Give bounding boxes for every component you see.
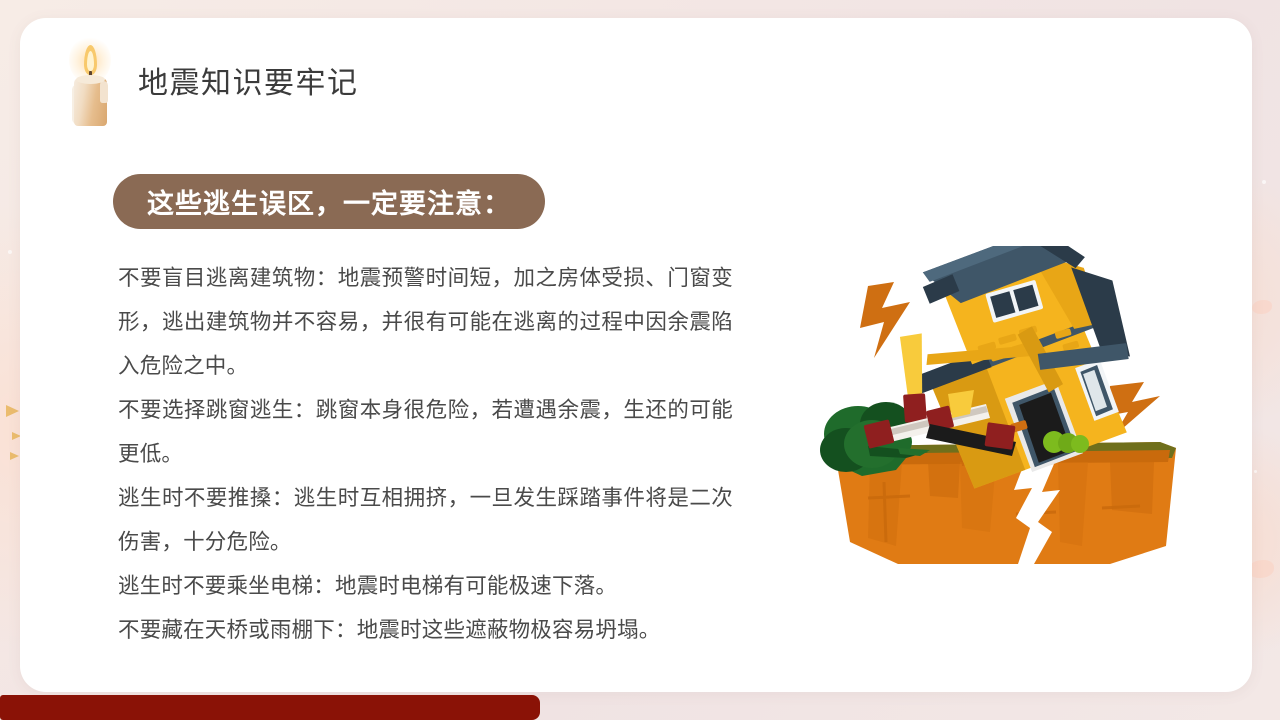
- body-paragraph: 逃生时不要推搡：逃生时互相拥挤，一旦发生踩踏事件将是二次伤害，十分危险。: [118, 476, 733, 564]
- gold-triangle-icon: [10, 452, 19, 460]
- section-banner-label: 这些逃生误区，一定要注意：: [147, 182, 511, 221]
- section-banner: 这些逃生误区，一定要注意：: [113, 174, 545, 229]
- sparkle-decor: [1254, 470, 1257, 473]
- slide-header: 地震知识要牢记: [58, 34, 359, 126]
- body-text-block: 不要盲目逃离建筑物：地震预警时间短，加之房体受损、门窗变形，逃出建筑物并不容易，…: [118, 256, 733, 652]
- bottom-accent-bar: [0, 695, 540, 720]
- sparkle-decor: [1262, 180, 1266, 184]
- petal-decor: [1252, 300, 1272, 314]
- body-paragraph: 不要选择跳窗逃生：跳窗本身很危险，若遭遇余震，生还的可能更低。: [118, 388, 733, 476]
- body-paragraph: 逃生时不要乘坐电梯：地震时电梯有可能极速下落。: [118, 564, 733, 608]
- gold-triangle-icon: [6, 405, 19, 417]
- candle-icon: [58, 34, 122, 126]
- slide-card: 地震知识要牢记 这些逃生误区，一定要注意： 不要盲目逃离建筑物：地震预警时间短，…: [20, 18, 1252, 692]
- page-title: 地震知识要牢记: [138, 58, 359, 102]
- body-paragraph: 不要盲目逃离建筑物：地震预警时间短，加之房体受损、门窗变形，逃出建筑物并不容易，…: [118, 256, 733, 388]
- sparkle-decor: [8, 250, 12, 254]
- earthquake-illustration: [810, 246, 1240, 576]
- body-paragraph: 不要藏在天桥或雨棚下：地震时这些遮蔽物极容易坍塌。: [118, 608, 733, 652]
